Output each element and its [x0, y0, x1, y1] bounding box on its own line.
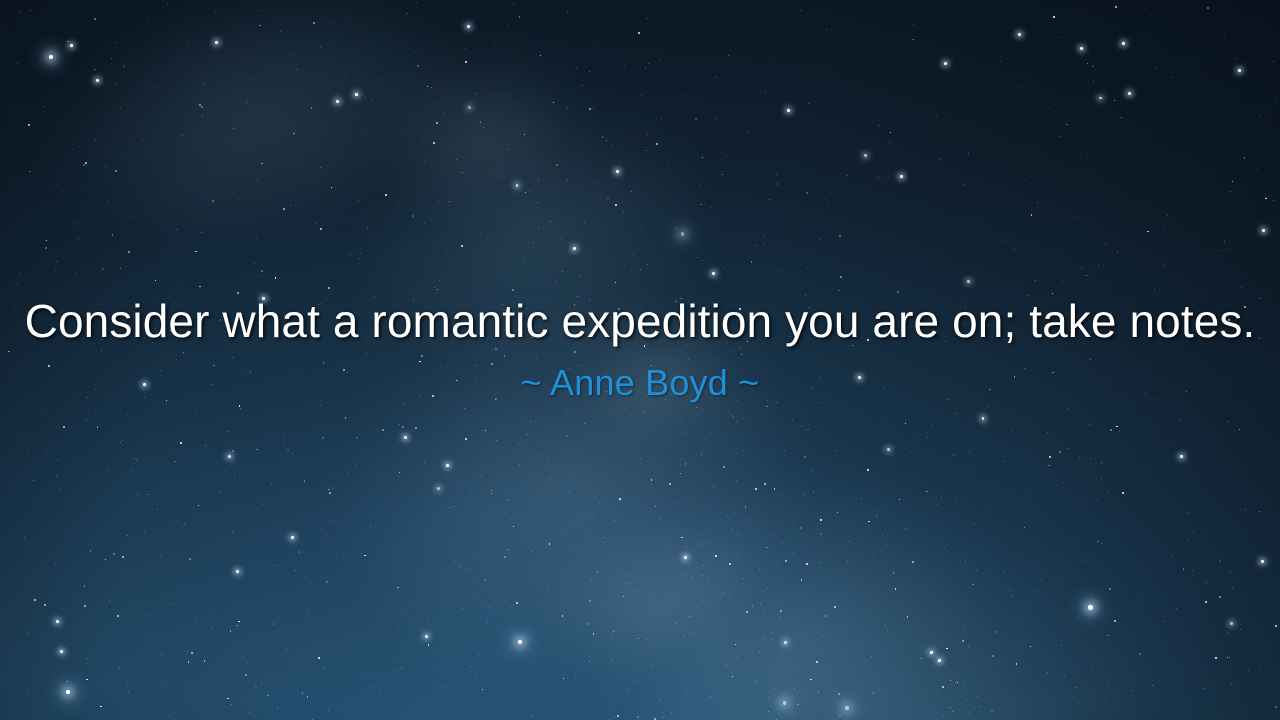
quote-slide: Consider what a romantic expedition you …: [0, 0, 1280, 720]
quote-text: Consider what a romantic expedition you …: [0, 296, 1280, 348]
quote-text-block: Consider what a romantic expedition you …: [0, 296, 1280, 403]
quote-attribution: ~ Anne Boyd ~: [0, 362, 1280, 403]
